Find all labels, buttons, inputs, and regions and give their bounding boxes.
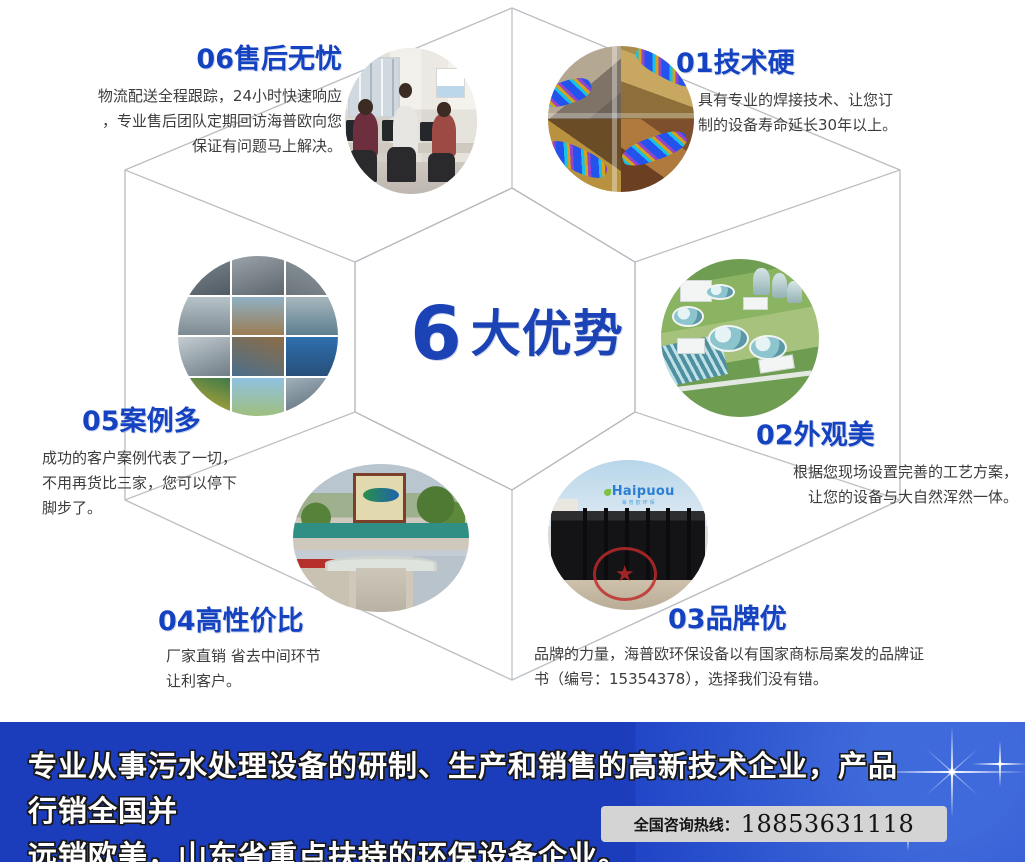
feature-04-title: 04高性价比: [158, 606, 430, 638]
feature-05-title: 05案例多: [82, 406, 332, 438]
feature-06-body-line-1: 物流配送全程跟踪，24小时快速响应: [18, 84, 342, 109]
feature-05-body-line-3: 脚步了。: [42, 496, 332, 521]
office-team-photo: [345, 48, 477, 194]
feature-04-body-line-1: 厂家直销 省去中间环节: [166, 644, 430, 669]
center-headline: 6 大优势: [372, 288, 662, 380]
haipuou-watermark: Haipuou 海普欧环保: [602, 484, 676, 506]
feature-03-title: 03品牌优: [668, 604, 1008, 636]
black-equipment-photo: Haipuou 海普欧环保 ★: [548, 460, 708, 610]
feature-02-body-line-1: 根据您现场设置完善的工艺方案，: [700, 460, 1018, 485]
trademark-stamp-icon: ★: [593, 547, 657, 601]
feature-01-body-line-2: 制的设备寿命延长30年以上。: [698, 113, 1006, 138]
hotline-label: 全国咨询热线：: [634, 814, 739, 835]
hotline-box[interactable]: 全国咨询热线： 18853631118: [601, 806, 947, 842]
aerial-treatment-plant-photo: [661, 259, 819, 417]
feature-01-title: 01技术硬: [676, 48, 1006, 80]
hotline-number: 18853631118: [741, 810, 914, 838]
welding-seams-photo: [548, 46, 694, 192]
feature-01: 01技术硬 具有专业的焊接技术、让您订 制的设备寿命延长30年以上。: [676, 48, 1006, 138]
feature-05-body-line-1: 成功的客户案例代表了一切，: [42, 446, 332, 471]
feature-01-body-line-1: 具有专业的焊接技术、让您订: [698, 88, 1006, 113]
feature-06-body-line-3: 保证有问题马上解决。: [18, 134, 342, 159]
feature-02-title: 02外观美: [756, 420, 1018, 452]
feature-03-body-line-2: 书（编号：15354378），选择我们没有错。: [534, 667, 1008, 692]
feature-03-body-line-1: 品牌的力量，海普欧环保设备以有国家商标局案发的品牌证: [534, 642, 1008, 667]
center-label-text: 大优势: [471, 306, 624, 362]
center-number: 6: [410, 297, 461, 371]
advantages-infographic: 6 大优势 06售后无忧 物流配送全程跟踪，24小时快速响应 ，专业售后团队定期…: [0, 0, 1025, 862]
feature-05-body-line-2: 不用再货比三家，您可以停下: [42, 471, 332, 496]
case-collage-photo: [178, 256, 338, 416]
feature-04: 04高性价比 厂家直销 省去中间环节 让利客户。: [110, 606, 430, 694]
banner-slogan: 专业从事污水处理设备的研制、生产和销售的高新技术企业，产品行销全国并 远销欧美，…: [28, 744, 918, 862]
feature-06-title: 06售后无忧: [18, 44, 342, 76]
feature-05: 05案例多 成功的客户案例代表了一切， 不用再货比三家，您可以停下 脚步了。: [42, 406, 332, 521]
feature-02-body-line-2: 让您的设备与大自然浑然一体。: [700, 485, 1018, 510]
feature-02: 02外观美 根据您现场设置完善的工艺方案， 让您的设备与大自然浑然一体。: [700, 420, 1018, 510]
feature-03: 03品牌优 品牌的力量，海普欧环保设备以有国家商标局案发的品牌证 书（编号：15…: [528, 604, 1008, 692]
feature-06: 06售后无忧 物流配送全程跟踪，24小时快速响应 ，专业售后团队定期回访海普欧向…: [18, 44, 342, 159]
feature-06-body-line-2: ，专业售后团队定期回访海普欧向您: [18, 109, 342, 134]
feature-04-body-line-2: 让利客户。: [166, 669, 430, 694]
